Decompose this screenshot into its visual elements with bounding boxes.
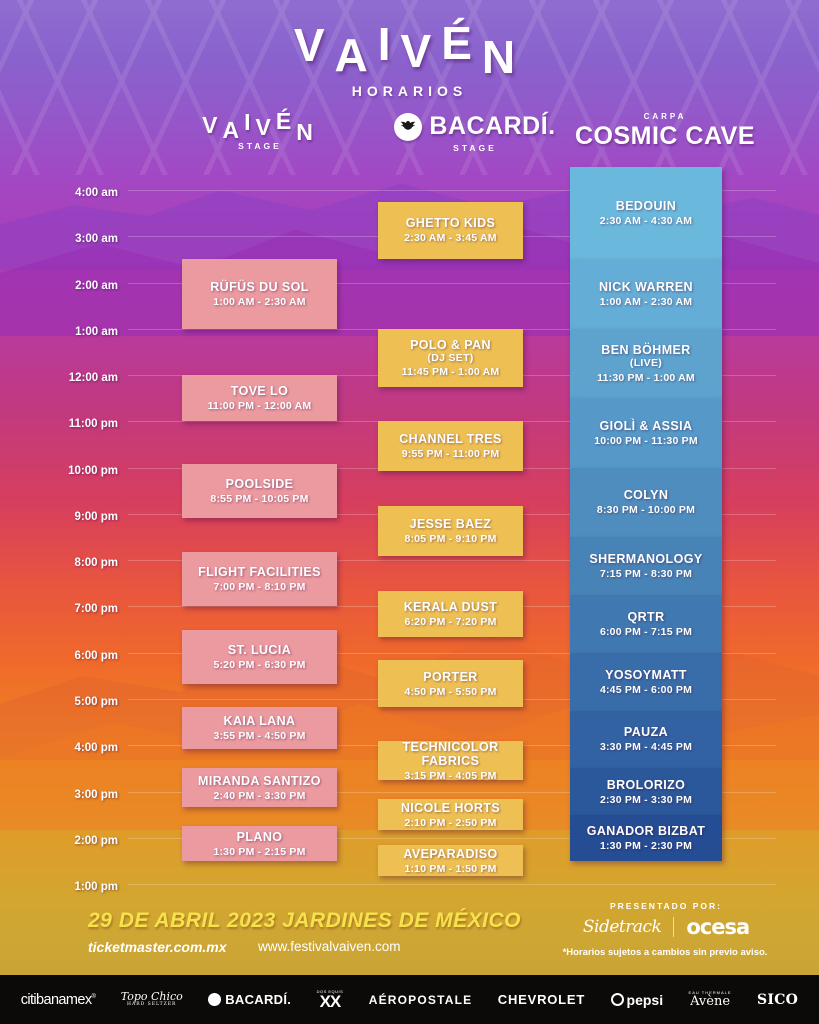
festival-schedule-poster: VAIVÉN HORARIOS VAIVÉN STAGE BACARDÍ. ST… <box>0 0 819 1024</box>
time-label-text: 4:00 pm <box>75 742 118 754</box>
schedule-block[interactable]: GANADOR BIZBAT1:30 PM - 2:30 PM <box>570 815 722 861</box>
schedule-block[interactable]: POLO & PAN(DJ SET)11:45 PM - 1:00 AM <box>378 329 523 387</box>
schedule-block[interactable]: BEN BÖHMER(LIVE)11:30 PM - 1:00 AM <box>570 329 722 398</box>
artist-name: NICOLE HORTS <box>401 801 500 815</box>
time-label-text: 9:00 pm <box>75 511 118 523</box>
time-label-text: 8:00 pm <box>75 557 118 569</box>
sponsor-label: BACARDÍ. <box>225 992 291 1007</box>
sponsor-pepsi: pepsi <box>611 992 664 1008</box>
schedule-block[interactable]: PORTER4:50 PM - 5:50 PM <box>378 660 523 706</box>
set-time: 1:10 PM - 1:50 PM <box>404 863 496 875</box>
schedule-block[interactable]: GIOLÌ & ASSIA10:00 PM - 11:30 PM <box>570 398 722 467</box>
website-link[interactable]: www.festivalvaiven.com <box>258 939 401 954</box>
artist-name: YOSOYMATT <box>605 668 687 682</box>
artist-name: PORTER <box>423 670 478 684</box>
sponsor-bar: citibanamex® Topo ChicoHARD SELTZER BACA… <box>0 975 819 1024</box>
artist-name: GHETTO KIDS <box>406 216 496 230</box>
time-axis-label: 1:00 am <box>0 322 118 340</box>
time-axis-label: 12:00 am <box>0 368 118 386</box>
schedule-grid: 4:00 am3:00 am2:00 am1:00 am12:00 am11:0… <box>0 0 819 975</box>
schedule-block[interactable]: AVEPARADISO1:10 PM - 1:50 PM <box>378 845 523 876</box>
set-time: 2:40 PM - 3:30 PM <box>213 790 305 802</box>
time-axis-label: 3:00 pm <box>0 785 118 803</box>
sponsor-sico: SICO <box>757 992 798 1008</box>
artist-name: KAIA LANA <box>224 714 296 728</box>
poster-footer: 29 DE ABRIL 2023 JARDINES DE MÉXICO tick… <box>0 895 819 975</box>
ocesa-logo: ocesa <box>686 915 749 939</box>
artist-name: JESSE BAEZ <box>410 517 492 531</box>
sponsor-chevrolet: CHEVROLET <box>498 992 585 1007</box>
sponsor-citibanamex: citibanamex® <box>21 992 96 1008</box>
time-label-text: 1:00 pm <box>75 881 118 893</box>
time-label-text: 2:00 pm <box>75 835 118 847</box>
time-label-text: 2:00 am <box>75 280 118 292</box>
time-axis-label: 10:00 pm <box>0 461 118 479</box>
set-time: 6:00 PM - 7:15 PM <box>600 626 692 638</box>
registered-mark: ® <box>91 994 95 1000</box>
time-label-text: 3:00 am <box>75 233 118 245</box>
artist-name: POLO & PAN <box>410 338 491 352</box>
set-time: 2:10 PM - 2:50 PM <box>404 817 496 829</box>
set-time: 1:30 PM - 2:30 PM <box>600 840 692 852</box>
schedule-block[interactable]: MIRANDA SANTIZO2:40 PM - 3:30 PM <box>182 768 337 807</box>
schedule-block[interactable]: CHANNEL TRES9:55 PM - 11:00 PM <box>378 421 523 471</box>
artist-name: NICK WARREN <box>599 280 693 294</box>
time-axis-label: 2:00 am <box>0 276 118 294</box>
time-label-text: 5:00 pm <box>75 696 118 708</box>
time-axis-label: 11:00 pm <box>0 414 118 432</box>
schedule-block[interactable]: COLYN8:30 PM - 10:00 PM <box>570 468 722 537</box>
artist-name: RÜFÜS DU SOL <box>210 280 309 294</box>
disclaimer-note: *Horarios sujetos a cambios sin previo a… <box>520 947 810 958</box>
artist-name: KERALA DUST <box>404 600 498 614</box>
set-time: 8:30 PM - 10:00 PM <box>597 504 695 516</box>
presented-by-label: PRESENTADO POR: <box>586 901 746 911</box>
schedule-block[interactable]: QRTR6:00 PM - 7:15 PM <box>570 595 722 653</box>
set-time: 2:30 AM - 3:45 AM <box>404 232 496 244</box>
set-time: 3:15 PM - 4:05 PM <box>404 770 496 782</box>
schedule-block[interactable]: PAUZA3:30 PM - 4:45 PM <box>570 711 722 769</box>
artist-name: BEDOUIN <box>616 199 676 213</box>
sponsor-label: XX <box>320 992 341 1011</box>
time-label-text: 3:00 pm <box>75 789 118 801</box>
time-label-text: 12:00 am <box>69 372 118 384</box>
set-time: 2:30 AM - 4:30 AM <box>600 215 692 227</box>
artist-name: GANADOR BIZBAT <box>587 824 706 838</box>
schedule-block[interactable]: KERALA DUST6:20 PM - 7:20 PM <box>378 591 523 637</box>
time-axis-label: 7:00 pm <box>0 599 118 617</box>
schedule-block[interactable]: NICK WARREN1:00 AM - 2:30 AM <box>570 259 722 328</box>
set-time: 10:00 PM - 11:30 PM <box>594 435 698 447</box>
schedule-block[interactable]: FLIGHT FACILITIES7:00 PM - 8:10 PM <box>182 552 337 606</box>
artist-subtitle: (LIVE) <box>630 357 662 369</box>
time-axis-label: 4:00 pm <box>0 738 118 756</box>
schedule-block[interactable]: JESSE BAEZ8:05 PM - 9:10 PM <box>378 506 523 556</box>
time-axis-label: 4:00 am <box>0 183 118 201</box>
sponsor-label: pepsi <box>627 992 664 1008</box>
schedule-block[interactable]: KAIA LANA3:55 PM - 4:50 PM <box>182 707 337 749</box>
schedule-block[interactable]: GHETTO KIDS2:30 AM - 3:45 AM <box>378 202 523 260</box>
artist-name: TOVE LO <box>231 384 288 398</box>
time-label-text: 11:00 pm <box>69 418 118 430</box>
set-time: 1:00 AM - 2:30 AM <box>600 296 692 308</box>
set-time: 4:45 PM - 6:00 PM <box>600 684 692 696</box>
artist-name: ST. LUCIA <box>228 643 291 657</box>
schedule-block[interactable]: TOVE LO11:00 PM - 12:00 AM <box>182 375 337 421</box>
schedule-block[interactable]: RÜFÜS DU SOL1:00 AM - 2:30 AM <box>182 259 337 328</box>
artist-name: BEN BÖHMER <box>601 343 690 357</box>
set-time: 6:20 PM - 7:20 PM <box>404 616 496 628</box>
set-time: 2:30 PM - 3:30 PM <box>600 794 692 806</box>
set-time: 11:30 PM - 1:00 AM <box>597 372 695 384</box>
artist-name: PAUZA <box>624 725 668 739</box>
time-label-text: 10:00 pm <box>68 465 118 477</box>
set-time: 11:00 PM - 12:00 AM <box>208 400 312 412</box>
schedule-block[interactable]: PLANO1:30 PM - 2:15 PM <box>182 826 337 861</box>
time-axis-label: 1:00 pm <box>0 877 118 895</box>
set-time: 8:55 PM - 10:05 PM <box>210 493 308 505</box>
set-time: 11:45 PM - 1:00 AM <box>402 366 500 378</box>
artist-name: MIRANDA SANTIZO <box>198 774 321 788</box>
sidetrack-logo: Sidetrack <box>583 917 661 937</box>
schedule-block[interactable]: BROLORIZO2:30 PM - 3:30 PM <box>570 768 722 814</box>
artist-name: FLIGHT FACILITIES <box>198 565 321 579</box>
artist-name: COLYN <box>624 488 669 502</box>
time-axis-label: 2:00 pm <box>0 831 118 849</box>
time-axis-label: 5:00 pm <box>0 692 118 710</box>
set-time: 3:30 PM - 4:45 PM <box>600 741 692 753</box>
time-label-text: 6:00 pm <box>75 650 118 662</box>
set-time: 4:50 PM - 5:50 PM <box>404 686 496 698</box>
time-axis-label: 9:00 pm <box>0 507 118 525</box>
schedule-block[interactable]: BEDOUIN2:30 AM - 4:30 AM <box>570 167 722 260</box>
set-time: 3:55 PM - 4:50 PM <box>213 730 305 742</box>
schedule-block[interactable]: POOLSIDE8:55 PM - 10:05 PM <box>182 464 337 518</box>
artist-name: CHANNEL TRES <box>399 432 502 446</box>
artist-name: TECHNICOLOR FABRICS <box>382 740 519 768</box>
schedule-block[interactable]: ST. LUCIA5:20 PM - 6:30 PM <box>182 630 337 684</box>
artist-name: POOLSIDE <box>226 477 294 491</box>
pepsi-circle-icon <box>611 993 624 1006</box>
set-time: 8:05 PM - 9:10 PM <box>404 533 496 545</box>
artist-name: QRTR <box>627 610 664 624</box>
bacardi-bat-icon <box>208 993 221 1006</box>
schedule-block[interactable]: YOSOYMATT4:45 PM - 6:00 PM <box>570 653 722 711</box>
sponsor-aeropostale: AÉROPOSTALE <box>369 993 473 1007</box>
sponsor-avene: EAU THERMALEAvène <box>689 991 732 1009</box>
date-venue: 29 DE ABRIL 2023 JARDINES DE MÉXICO <box>88 909 521 933</box>
time-label-text: 4:00 am <box>75 187 118 199</box>
sponsor-label: Avène <box>690 994 730 1009</box>
set-time: 7:00 PM - 8:10 PM <box>213 581 305 593</box>
sponsor-tagline: HARD SELTZER <box>121 1003 183 1008</box>
set-time: 1:30 PM - 2:15 PM <box>213 846 305 858</box>
time-axis-label: 3:00 am <box>0 229 118 247</box>
set-time: 7:15 PM - 8:30 PM <box>600 568 692 580</box>
ticketmaster-link[interactable]: ticketmaster.com.mx <box>88 939 227 955</box>
set-time: 5:20 PM - 6:30 PM <box>213 659 305 671</box>
schedule-block[interactable]: TECHNICOLOR FABRICS3:15 PM - 4:05 PM <box>378 741 523 780</box>
schedule-block[interactable]: NICOLE HORTS2:10 PM - 2:50 PM <box>378 799 523 830</box>
logo-divider <box>673 917 674 937</box>
artist-subtitle: (DJ SET) <box>427 352 473 364</box>
set-time: 9:55 PM - 11:00 PM <box>402 448 500 460</box>
artist-name: SHERMANOLOGY <box>589 552 702 566</box>
schedule-block[interactable]: SHERMANOLOGY7:15 PM - 8:30 PM <box>570 537 722 595</box>
time-label-text: 7:00 pm <box>75 603 118 615</box>
artist-name: BROLORIZO <box>607 778 686 792</box>
grid-line <box>128 884 776 885</box>
set-time: 1:00 AM - 2:30 AM <box>213 296 305 308</box>
time-axis-label: 6:00 pm <box>0 646 118 664</box>
artist-name: PLANO <box>237 830 283 844</box>
time-axis-label: 8:00 pm <box>0 553 118 571</box>
sponsor-dos-equis: DOS EQUISXX <box>317 990 344 1009</box>
time-label-text: 1:00 am <box>75 326 118 338</box>
artist-name: AVEPARADISO <box>403 847 497 861</box>
presenter-logos: Sidetrack ocesa <box>580 915 752 939</box>
sponsor-topo-chico: Topo ChicoHARD SELTZER <box>121 991 183 1008</box>
artist-name: GIOLÌ & ASSIA <box>600 419 693 433</box>
sponsor-bacardi: BACARDÍ. <box>208 992 291 1007</box>
sponsor-label: citibanamex <box>21 992 92 1008</box>
